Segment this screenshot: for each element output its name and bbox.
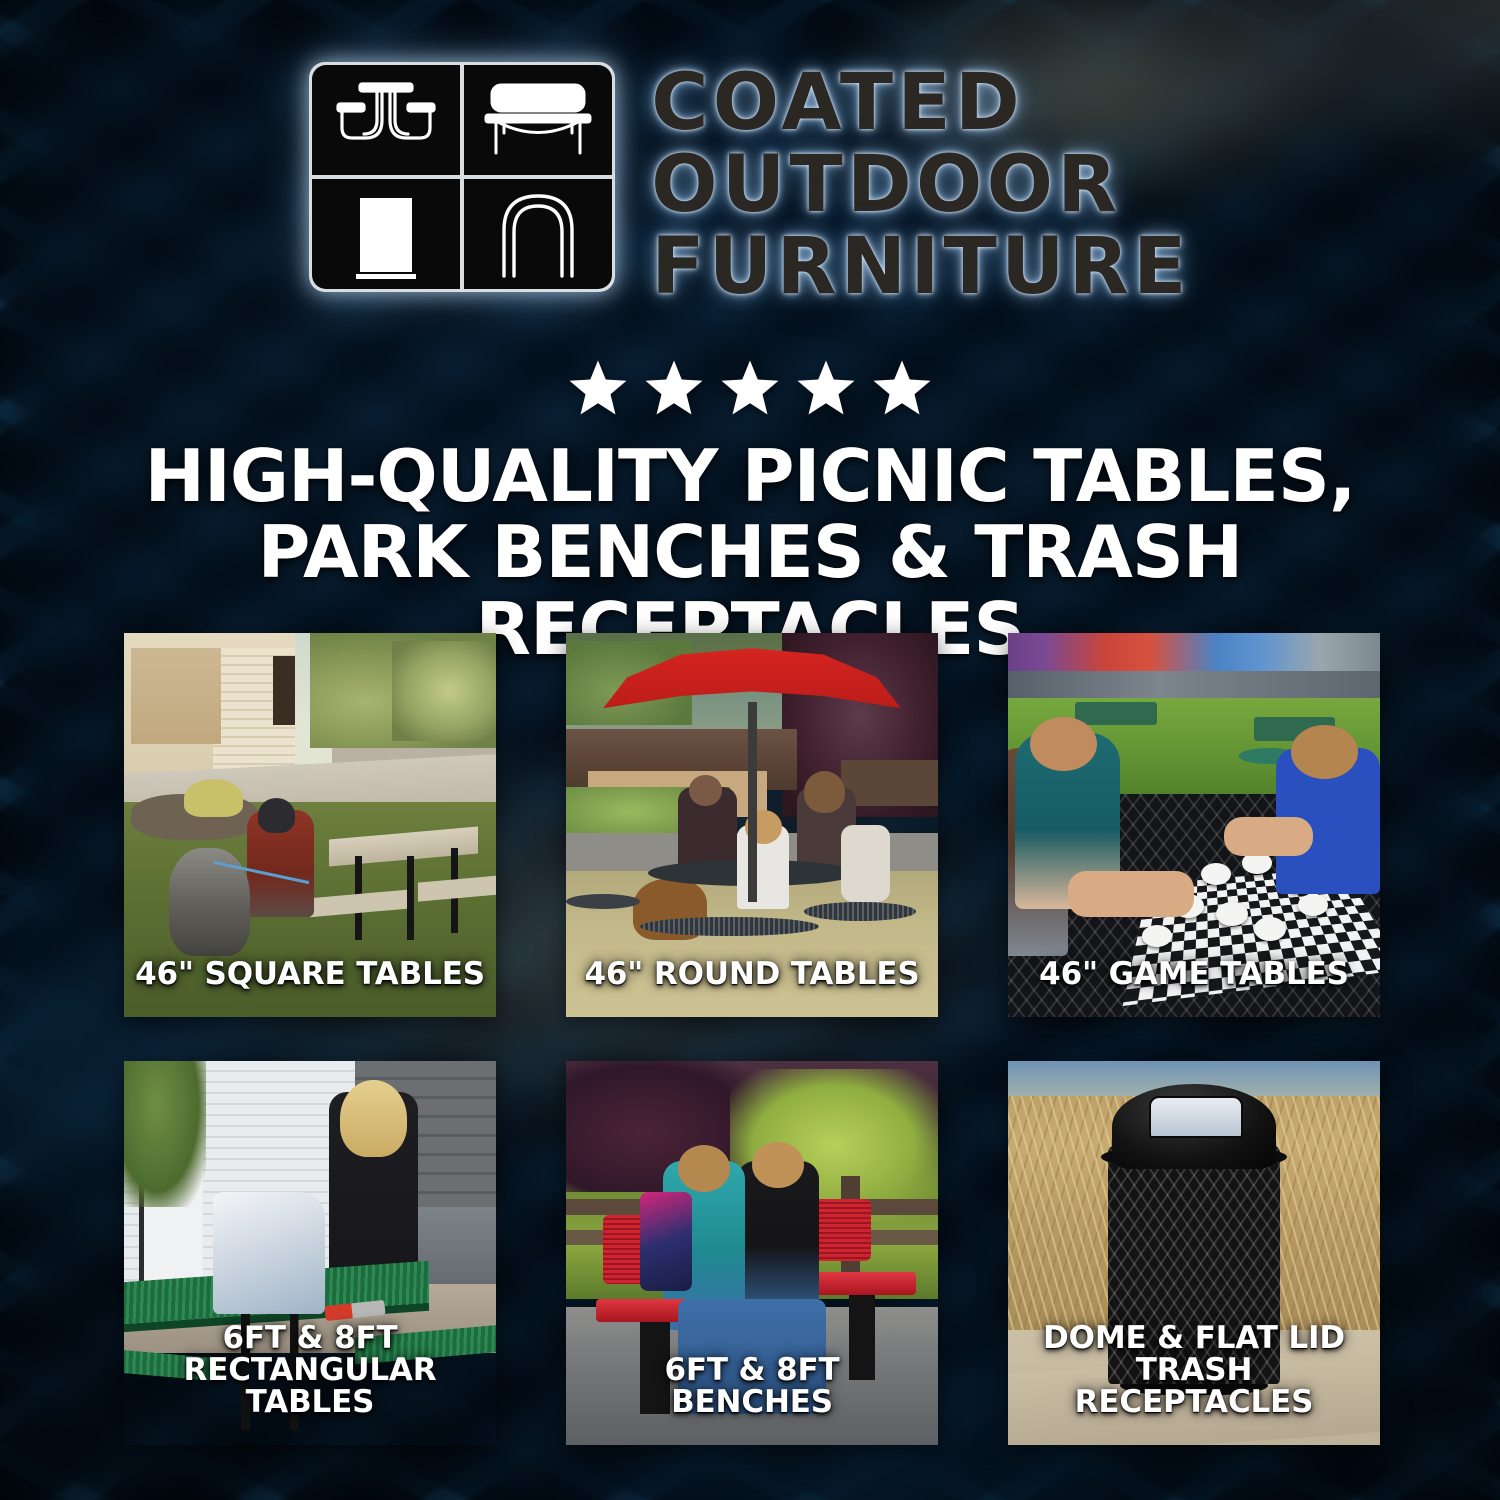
product-tile-benches[interactable]: 6FT & 8FT BENCHES bbox=[566, 1061, 938, 1445]
caption-line-1: 46" ROUND TABLES bbox=[584, 956, 919, 992]
product-tile-round-tables[interactable]: 46" ROUND TABLES bbox=[566, 633, 938, 1017]
star-icon bbox=[871, 358, 933, 418]
brand-wordmark: COATED OUTDOOR FURNITURE bbox=[651, 62, 1190, 304]
product-caption: 6FT & 8FT BENCHES bbox=[566, 1355, 938, 1419]
picnic-table-icon bbox=[312, 65, 460, 175]
caption-line-1: DOME & FLAT LID bbox=[1043, 1320, 1345, 1356]
product-caption: 6FT & 8FT RECTANGULAR TABLES bbox=[124, 1323, 496, 1419]
wordmark-line-2: OUTDOOR bbox=[651, 148, 1121, 222]
product-caption: 46" ROUND TABLES bbox=[566, 959, 938, 991]
caption-line-2: TRASH RECEPTACLES bbox=[1016, 1355, 1372, 1419]
star-icon bbox=[567, 358, 629, 418]
caption-line-1: 6FT & 8FT bbox=[664, 1352, 839, 1388]
star-icon bbox=[643, 358, 705, 418]
bike-rack-icon bbox=[464, 179, 612, 289]
caption-line-1: 46" SQUARE TABLES bbox=[135, 956, 485, 992]
bench-icon bbox=[464, 65, 612, 175]
product-caption: 46" SQUARE TABLES bbox=[124, 959, 496, 991]
product-caption: 46" GAME TABLES bbox=[1008, 959, 1380, 991]
product-tile-game-tables[interactable]: 46" GAME TABLES bbox=[1008, 633, 1380, 1017]
caption-line-1: 46" GAME TABLES bbox=[1039, 956, 1349, 992]
star-icon bbox=[719, 358, 781, 418]
star-rating bbox=[0, 358, 1500, 418]
wordmark-line-1: COATED bbox=[651, 66, 1024, 140]
brand-header: COATED OUTDOOR FURNITURE bbox=[0, 62, 1500, 304]
product-tile-square-tables[interactable]: 46" SQUARE TABLES bbox=[124, 633, 496, 1017]
caption-line-2: BENCHES bbox=[574, 1387, 930, 1419]
brand-logo-mark[interactable] bbox=[309, 62, 615, 292]
caption-line-1: 6FT & 8FT bbox=[222, 1320, 397, 1356]
product-tile-trash-receptacles[interactable]: DOME & FLAT LID TRASH RECEPTACLES bbox=[1008, 1061, 1380, 1445]
product-grid: 46" SQUARE TABLES bbox=[124, 633, 1380, 1445]
product-tile-rectangular-tables[interactable]: 6FT & 8FT RECTANGULAR TABLES bbox=[124, 1061, 496, 1445]
promo-banner: COATED OUTDOOR FURNITURE HIGH-QUALITY PI… bbox=[0, 0, 1500, 1500]
star-icon bbox=[795, 358, 857, 418]
trash-receptacle-icon bbox=[312, 179, 460, 289]
caption-line-2: RECTANGULAR TABLES bbox=[132, 1355, 488, 1419]
wordmark-line-3: FURNITURE bbox=[651, 230, 1190, 304]
product-caption: DOME & FLAT LID TRASH RECEPTACLES bbox=[1008, 1323, 1380, 1419]
